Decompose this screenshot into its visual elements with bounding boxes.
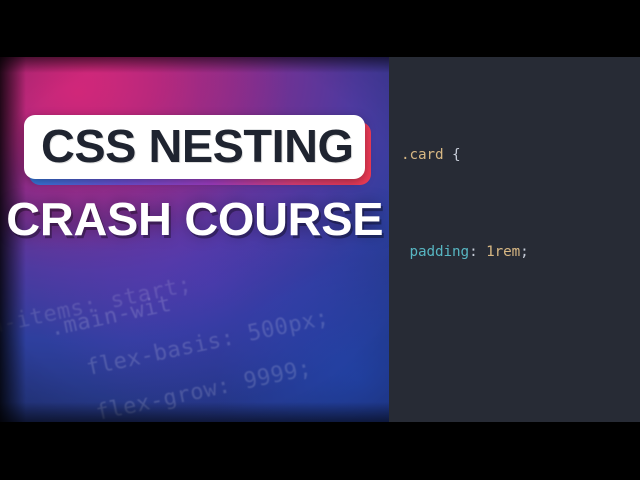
code-token-value: 1rem bbox=[486, 244, 520, 260]
code-token-punct: ; bbox=[520, 244, 529, 260]
code-line-3-blank bbox=[401, 337, 640, 361]
title-badge: CSS NESTING bbox=[24, 115, 364, 179]
code-lines-container: .card { padding: 1rem; .title { font-wei… bbox=[389, 70, 640, 422]
code-preview-panel: .card { padding: 1rem; .title { font-wei… bbox=[389, 57, 640, 422]
code-token-selector: .card bbox=[401, 147, 444, 163]
code-token-punct: : bbox=[469, 244, 486, 260]
letterbox-bottom bbox=[0, 422, 640, 480]
video-thumbnail: flex align-items: start; .main-with .mai… bbox=[0, 0, 640, 480]
title-badge-label: CSS NESTING bbox=[41, 122, 353, 170]
thumbnail-content: flex align-items: start; .main-with .mai… bbox=[0, 57, 640, 422]
code-line-2: padding: 1rem; bbox=[401, 240, 640, 264]
title-badge-wrapper: CSS NESTING bbox=[24, 115, 364, 179]
letterbox-top bbox=[0, 0, 640, 57]
subtitle-label: CRASH COURSE bbox=[6, 194, 383, 244]
code-indent bbox=[401, 244, 410, 260]
code-line-1: .card { bbox=[401, 143, 640, 167]
code-token-punct: { bbox=[444, 147, 461, 163]
code-token-property: padding bbox=[410, 244, 470, 260]
title-block: CSS NESTING CRASH COURSE bbox=[0, 57, 389, 422]
